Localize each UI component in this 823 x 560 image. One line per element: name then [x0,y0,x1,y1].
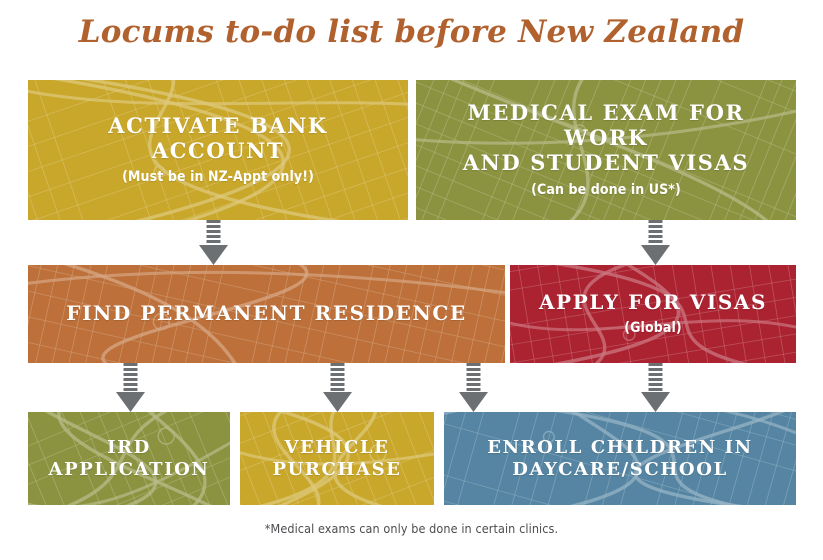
flow-box-text: MEDICAL EXAM FOR WORK AND STUDENT VISAS … [416,101,796,198]
flow-box-headline-line-1: ENROLL CHILDREN IN [454,437,786,458]
flow-box-text: APPLY FOR VISAS (Global) [510,291,796,337]
arrow-residence-to-ird [116,363,145,412]
flow-box-text: FIND PERMANENT RESIDENCE [28,302,505,326]
flow-box-apply-for-visas[interactable]: APPLY FOR VISAS (Global) [510,265,796,363]
flow-box-headline-line-1: VEHICLE [250,437,424,458]
flow-box-subtext: (Can be done in US*) [426,182,786,199]
flow-box-headline: MEDICAL EXAM FOR WORK AND STUDENT VISAS [426,101,786,175]
arrow-residence-to-vehicle [323,363,352,412]
flow-box-headline: ACTIVATE BANK ACCOUNT [38,114,398,164]
flow-box-text: IRD APPLICATION [28,437,230,479]
flow-box-find-permanent-residence[interactable]: FIND PERMANENT RESIDENCE [28,265,505,363]
infographic-canvas: Locums to-do list before New Zealand ACT… [0,0,823,560]
flow-box-subtext: (Global) [520,320,786,337]
arrow-visas-to-enroll [641,363,670,412]
flow-box-text: VEHICLE PURCHASE [240,437,434,479]
flow-box-headline-line-1: IRD [38,437,220,458]
flow-box-headline-line-2: PURCHASE [250,459,424,480]
flow-box-headline: APPLY FOR VISAS [520,291,786,315]
arrow-bank-to-residence [199,220,228,265]
flow-box-headline: VEHICLE PURCHASE [250,437,424,479]
arrow-medical-to-visas [641,220,670,265]
flow-box-subtext: (Must be in NZ-Appt only!) [38,169,398,186]
flow-box-headline-line-2: DAYCARE/SCHOOL [454,459,786,480]
flow-box-headline-line-2: AND STUDENT VISAS [426,151,786,176]
page-title: Locums to-do list before New Zealand [0,14,823,50]
footnote-text: *Medical exams can only be done in certa… [0,521,823,536]
flow-box-ird-application[interactable]: IRD APPLICATION [28,412,230,505]
flow-box-headline: ENROLL CHILDREN IN DAYCARE/SCHOOL [454,437,786,479]
flow-box-headline-line-1: MEDICAL EXAM FOR WORK [426,101,786,151]
flow-box-vehicle-purchase[interactable]: VEHICLE PURCHASE [240,412,434,505]
flow-box-medical-exam[interactable]: MEDICAL EXAM FOR WORK AND STUDENT VISAS … [416,80,796,220]
flow-box-headline-line-2: APPLICATION [38,459,220,480]
flow-box-activate-bank-account[interactable]: ACTIVATE BANK ACCOUNT (Must be in NZ-App… [28,80,408,220]
arrow-residence-to-enroll [459,363,488,412]
flow-box-enroll-children[interactable]: ENROLL CHILDREN IN DAYCARE/SCHOOL [444,412,796,505]
flow-box-text: ENROLL CHILDREN IN DAYCARE/SCHOOL [444,437,796,479]
flow-box-headline: FIND PERMANENT RESIDENCE [38,302,495,326]
flow-box-headline: IRD APPLICATION [38,437,220,479]
flow-box-text: ACTIVATE BANK ACCOUNT (Must be in NZ-App… [28,114,408,186]
